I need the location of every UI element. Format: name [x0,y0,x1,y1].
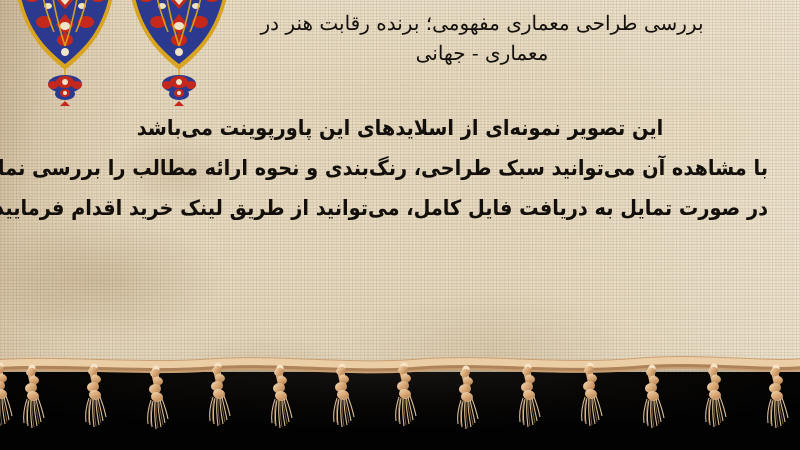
body-line-3: در صورت تمایل به دریافت فایل کامل، می‌تو… [32,188,768,228]
slide-title-line-2: معماری - جهانی [182,38,782,68]
tassel-fringe [0,352,800,450]
slide-canvas: بررسی طراحی معماری مفهومی؛ برنده رقابت ه… [0,0,800,450]
persian-medallion-left [6,0,124,106]
slide-body-text: این تصویر نمونه‌ای از اسلایدهای این پاور… [0,108,800,228]
body-line-2: با مشاهده آن می‌توانید سبک طراحی، رنگ‌بن… [32,148,768,188]
slide-title: بررسی طراحی معماری مفهومی؛ برنده رقابت ه… [182,8,782,68]
body-line-1: این تصویر نمونه‌ای از اسلایدهای این پاور… [32,108,768,148]
slide-title-line-1: بررسی طراحی معماری مفهومی؛ برنده رقابت ه… [182,8,782,38]
